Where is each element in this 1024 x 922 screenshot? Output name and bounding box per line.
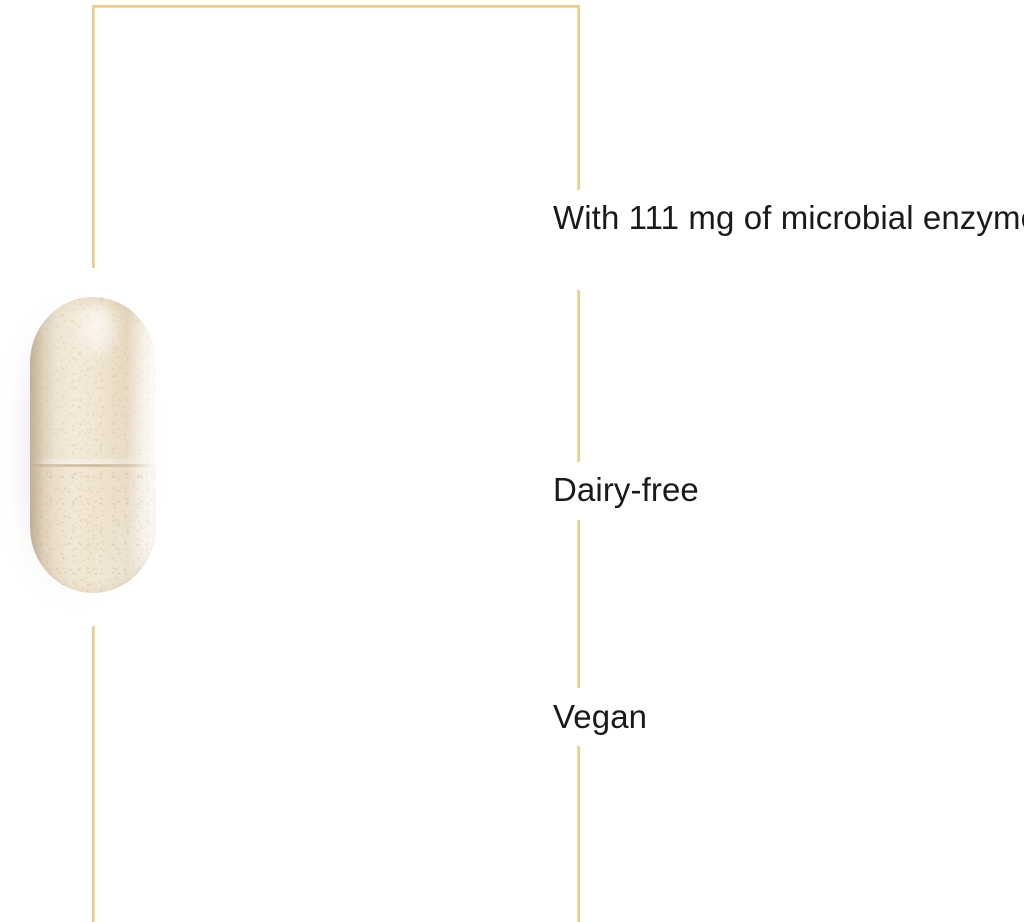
capsule-right-rim-highlight — [134, 297, 156, 593]
benefit-text-vegan: Vegan — [553, 695, 647, 739]
benefit-text-dairy-free: Dairy-free — [553, 468, 699, 512]
supplement-capsule-image — [18, 290, 168, 600]
capsule-left-rim-shading — [30, 297, 56, 593]
benefit-text-enzymes: With 111 mg of microbial enzymes per ser… — [553, 196, 1024, 240]
product-benefits-panel: With 111 mg of microbial enzymes per ser… — [0, 0, 1024, 922]
capsule-body — [30, 297, 156, 593]
capsule-gloss-highlight — [74, 305, 120, 361]
benefit-line-1: With 111 mg of microbial enzymes per ser… — [553, 196, 1024, 240]
